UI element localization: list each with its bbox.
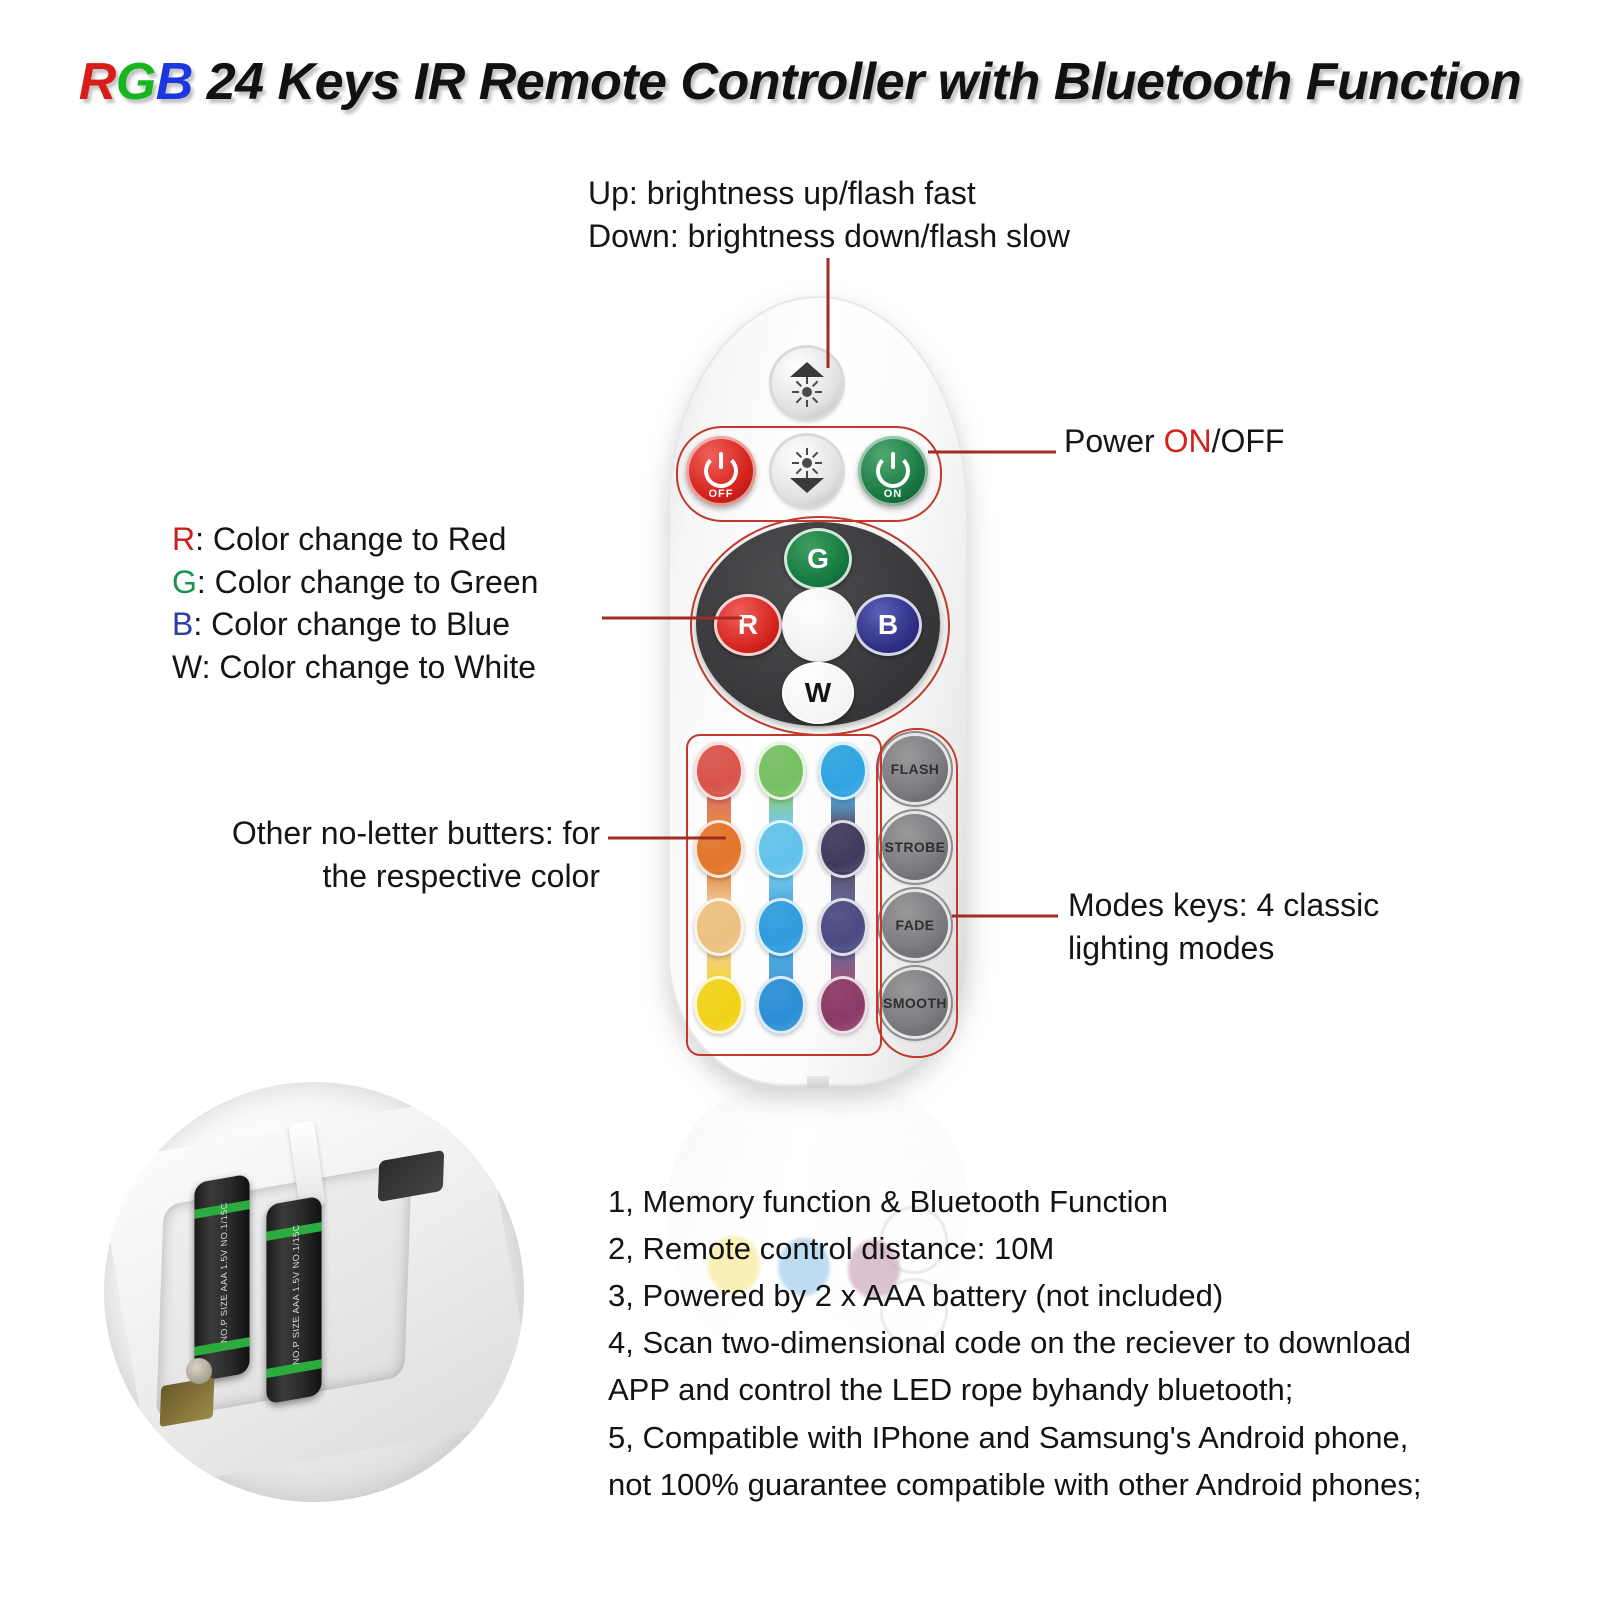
title-letter-b: B xyxy=(156,53,193,111)
callout-power-prefix: Power xyxy=(1064,423,1164,459)
color-swatch-button[interactable] xyxy=(694,976,744,1034)
callout-rgbw-b-text: : Color change to Blue xyxy=(193,606,510,642)
callout-rgbw-r-text: : Color change to Red xyxy=(195,521,506,557)
battery-label-text: NO.P SIZE AAA 1.5V NO.1/15C xyxy=(219,1180,229,1365)
pad-button-center[interactable] xyxy=(782,588,856,662)
aaa-battery: NO.P SIZE AAA 1.5V NO.1/15C xyxy=(266,1196,321,1405)
mode-button-label: STROBE xyxy=(885,839,946,855)
callout-modes-line1: Modes keys: 4 classic xyxy=(1068,884,1379,927)
callout-other-line1: Other no-letter butters: for xyxy=(170,812,600,855)
color-swatch-button[interactable] xyxy=(756,742,806,800)
mode-button-strobe[interactable]: STROBE xyxy=(882,814,948,880)
callout-rgbw-g-letter: G xyxy=(172,564,197,600)
mode-button-label: FADE xyxy=(896,917,935,933)
callout-rgbw: R: Color change to Red G: Color change t… xyxy=(172,518,538,688)
callout-rgbw-w: W: Color change to White xyxy=(172,646,538,689)
callout-rgbw-w-letter: W xyxy=(172,649,202,685)
color-swatch-button[interactable] xyxy=(818,898,868,956)
color-swatch-button[interactable] xyxy=(694,820,744,878)
brightness-down-button[interactable] xyxy=(772,436,842,506)
callout-other-line2: the respective color xyxy=(170,855,600,898)
feature-list: 1, Memory function & Bluetooth Function2… xyxy=(608,1178,1508,1508)
callout-rgbw-g-text: : Color change to Green xyxy=(197,564,539,600)
power-on-button[interactable]: ON xyxy=(858,436,928,506)
callout-rgbw-b: B: Color change to Blue xyxy=(172,603,538,646)
color-swatch-button[interactable] xyxy=(818,742,868,800)
callout-modes-line2: lighting modes xyxy=(1068,927,1379,970)
power-glyph-icon xyxy=(876,454,910,488)
color-swatch-button[interactable] xyxy=(818,820,868,878)
mode-button-smooth[interactable]: SMOOTH xyxy=(882,970,948,1036)
feature-list-item: 2, Remote control distance: 10M xyxy=(608,1225,1508,1272)
callout-rgbw-r: R: Color change to Red xyxy=(172,518,538,561)
page-title: RGB 24 Keys IR Remote Controller with Bl… xyxy=(0,52,1600,112)
sun-arrow-down-icon xyxy=(790,450,824,493)
title-rest: 24 Keys IR Remote Controller with Blueto… xyxy=(193,53,1521,111)
callout-brightness: Up: brightness up/flash fast Down: brigh… xyxy=(588,172,1070,257)
feature-list-item: not 100% guarantee compatible with other… xyxy=(608,1461,1508,1508)
pad-button-white[interactable]: W xyxy=(782,662,854,724)
battery-label-text: NO.P SIZE AAA 1.5V NO.1/15C xyxy=(291,1202,301,1387)
feature-list-item: APP and control the LED rope byhandy blu… xyxy=(608,1366,1508,1413)
sun-icon xyxy=(794,379,820,405)
callout-power-suffix: /OFF xyxy=(1212,423,1285,459)
power-on-label: ON xyxy=(858,488,928,500)
pad-button-red[interactable]: R xyxy=(714,594,782,656)
callout-power-on: ON xyxy=(1164,423,1212,459)
battery-compartment-photo: NO.P SIZE AAA 1.5V NO.1/15C NO.P SIZE AA… xyxy=(104,1082,524,1502)
rgbw-pad: G R B W xyxy=(696,522,940,726)
color-swatch-button[interactable] xyxy=(818,976,868,1034)
callout-rgbw-w-text: : Color change to White xyxy=(202,649,536,685)
color-swatch-button[interactable] xyxy=(756,976,806,1034)
color-swatch-grid xyxy=(694,742,870,1042)
callout-modes: Modes keys: 4 classic lighting modes xyxy=(1068,884,1379,969)
callout-power: Power ON/OFF xyxy=(1064,420,1284,463)
infographic-page: RGB 24 Keys IR Remote Controller with Bl… xyxy=(0,0,1600,1600)
power-glyph-icon xyxy=(704,454,738,488)
pad-button-green[interactable]: G xyxy=(784,528,852,590)
title-letter-g: G xyxy=(116,53,156,111)
mode-button-fade[interactable]: FADE xyxy=(882,892,948,958)
battery-terminal xyxy=(186,1358,212,1384)
callout-other-keys: Other no-letter butters: for the respect… xyxy=(170,812,600,897)
mode-button-label: SMOOTH xyxy=(883,995,947,1011)
callout-rgbw-r-letter: R xyxy=(172,521,195,557)
title-letter-r: R xyxy=(79,53,116,111)
arrow-up-sun-icon xyxy=(790,362,824,405)
color-swatch-button[interactable] xyxy=(694,898,744,956)
color-swatch-button[interactable] xyxy=(694,742,744,800)
color-swatch-button[interactable] xyxy=(756,898,806,956)
color-swatch-button[interactable] xyxy=(756,820,806,878)
mode-button-column: FLASHSTROBEFADESMOOTH xyxy=(882,736,948,1046)
feature-list-item: 5, Compatible with IPhone and Samsung's … xyxy=(608,1414,1508,1461)
mode-button-label: FLASH xyxy=(891,761,940,777)
pad-button-blue[interactable]: B xyxy=(854,594,922,656)
power-off-button[interactable]: OFF xyxy=(686,436,756,506)
mode-button-flash[interactable]: FLASH xyxy=(882,736,948,802)
power-off-label: OFF xyxy=(686,488,756,500)
callout-brightness-line2: Down: brightness down/flash slow xyxy=(588,215,1070,258)
callout-rgbw-g: G: Color change to Green xyxy=(172,561,538,604)
feature-list-item: 4, Scan two-dimensional code on the reci… xyxy=(608,1319,1508,1366)
remote-bottom-notch xyxy=(807,1076,829,1088)
brightness-up-button[interactable] xyxy=(772,348,842,418)
callout-brightness-line1: Up: brightness up/flash fast xyxy=(588,172,1070,215)
feature-list-item: 3, Powered by 2 x AAA battery (not inclu… xyxy=(608,1272,1508,1319)
sun-icon xyxy=(794,450,820,476)
remote-control-body: OFF ON G R B W FLASHSTROBEFADESMOOTH xyxy=(668,296,968,1086)
feature-list-items: 1, Memory function & Bluetooth Function2… xyxy=(608,1178,1508,1508)
arrow-up-icon xyxy=(790,362,824,377)
aaa-battery: NO.P SIZE AAA 1.5V NO.1/15C xyxy=(194,1174,249,1383)
arrow-down-icon xyxy=(790,478,824,493)
callout-rgbw-b-letter: B xyxy=(172,606,193,642)
feature-list-item: 1, Memory function & Bluetooth Function xyxy=(608,1178,1508,1225)
